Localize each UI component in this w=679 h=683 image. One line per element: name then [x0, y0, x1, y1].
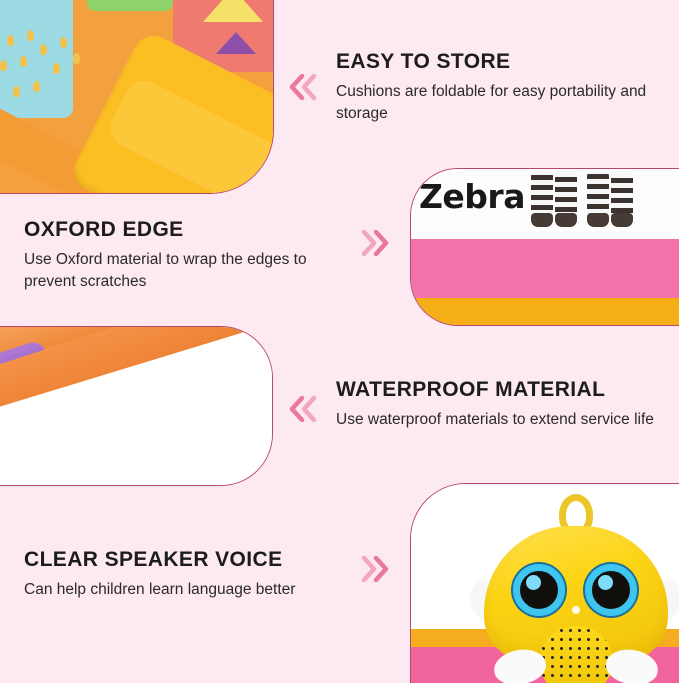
zebra-leg — [555, 171, 577, 227]
feature-block-clear-speaker-voice: CLEAR SPEAKER VOICE Can help children le… — [24, 548, 295, 601]
count-dot — [27, 30, 34, 41]
feature-description: Use Oxford material to wrap the edges to… — [24, 249, 354, 292]
feature-heading: CLEAR SPEAKER VOICE — [24, 548, 295, 572]
count-dot — [20, 56, 27, 67]
zebra-leg — [611, 171, 633, 227]
yellow-speaker-photo — [410, 483, 679, 683]
double-chevron-right-icon — [360, 556, 390, 582]
yellow-triangle-shape — [203, 0, 263, 22]
zebra-leg — [531, 171, 553, 227]
infographic-canvas: 10 Ten 5 Five Four EASY TO STORE Cushion… — [0, 0, 679, 679]
feature-description: Use waterproof materials to extend servi… — [336, 409, 654, 430]
feature-heading: OXFORD EDGE — [24, 218, 354, 242]
book-page-numbers — [0, 0, 73, 118]
double-chevron-left-icon — [288, 74, 318, 100]
zebra-legs-illustration — [531, 171, 635, 233]
zebra-hoof — [587, 213, 609, 227]
zebra-page-oxford-edge — [411, 298, 679, 325]
count-dot — [13, 86, 20, 97]
zebra-hoof — [531, 213, 553, 227]
speaker-nose-dot — [572, 606, 580, 614]
count-dot — [7, 35, 14, 46]
count-dot — [33, 81, 40, 92]
purple-triangle-shape — [216, 32, 256, 54]
book-page-green — [87, 0, 174, 11]
count-dot — [73, 53, 80, 64]
speaker-eye-left — [513, 564, 565, 616]
double-chevron-left-icon — [288, 396, 318, 422]
feature-heading: WATERPROOF MATERIAL — [336, 378, 654, 402]
double-chevron-right-icon — [360, 230, 390, 256]
zebra-page-pink-band — [411, 239, 679, 298]
zebra-hoof — [555, 213, 577, 227]
feature-block-oxford-edge: OXFORD EDGE Use Oxford material to wrap … — [24, 218, 354, 292]
feature-description: Cushions are foldable for easy portabili… — [336, 81, 666, 124]
feature-block-waterproof-material: WATERPROOF MATERIAL Use waterproof mater… — [336, 378, 654, 431]
folded-learning-book-photo: 10 Ten 5 Five Four — [0, 0, 274, 194]
zebra-page-word: Zebra — [419, 177, 525, 216]
count-dot — [60, 37, 67, 48]
zebra-leg — [587, 171, 609, 227]
feature-heading: EASY TO STORE — [336, 50, 666, 74]
zebra-hoof — [611, 213, 633, 227]
count-dot — [53, 63, 60, 74]
zebra-page-edge-photo: Zebra — [410, 168, 679, 326]
feature-description: Can help children learn language better — [24, 579, 295, 600]
speaker-eye-right — [585, 564, 637, 616]
waterproof-material-photo: on — [0, 326, 273, 486]
feature-block-easy-to-store: EASY TO STORE Cushions are foldable for … — [336, 50, 666, 124]
count-dot — [0, 60, 7, 71]
count-dot — [40, 44, 47, 55]
